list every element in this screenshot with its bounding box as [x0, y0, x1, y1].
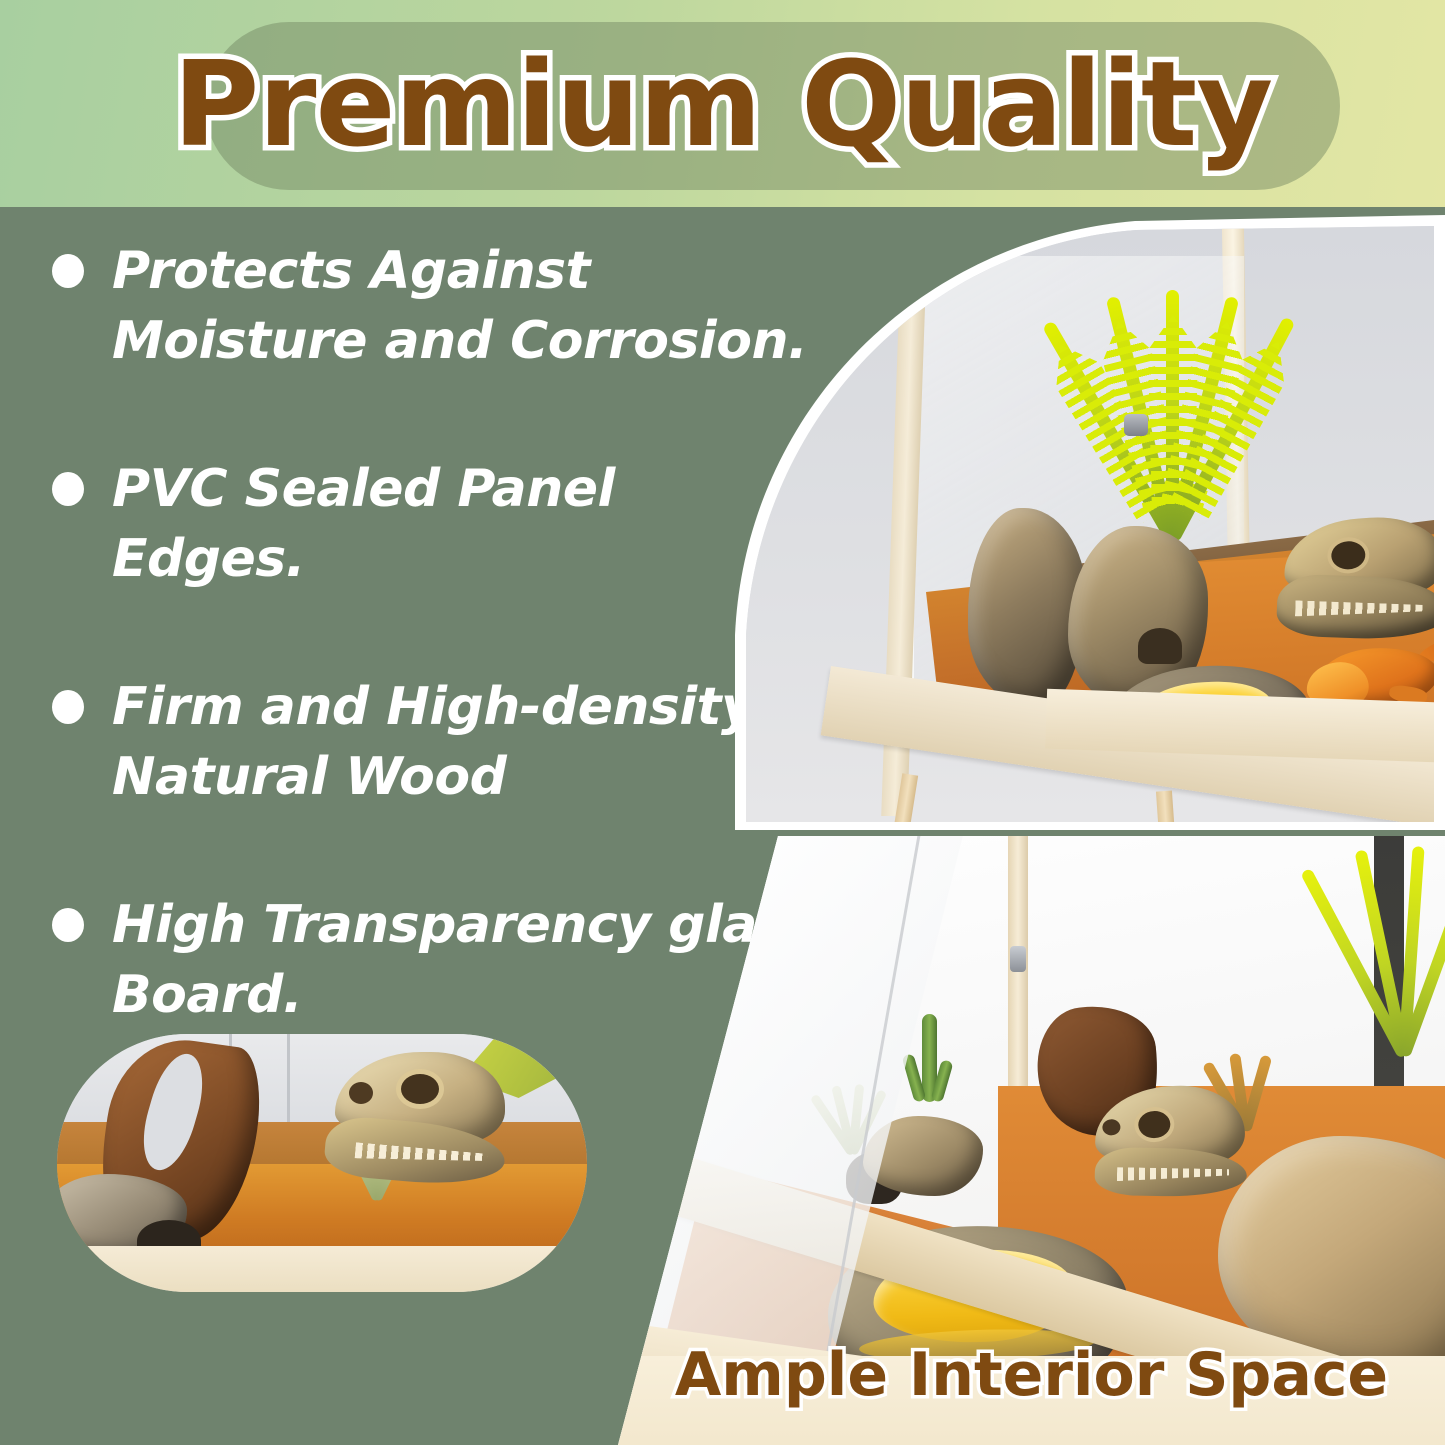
dinosaur-skull-decor [1084, 1082, 1266, 1231]
panel-knob [1010, 946, 1026, 972]
list-item: High Transparency glass Board. [52, 890, 822, 1030]
dinosaur-skull-decor [325, 1052, 525, 1222]
header-banner: Premium Quality [0, 0, 1445, 208]
list-item: Protects Against Moisture and Corrosion. [52, 236, 822, 376]
feature-text: PVC Sealed Panel Edges. [112, 454, 822, 594]
terrarium-base-rail [57, 1246, 587, 1292]
bottom-caption: Ample Interior Space [618, 1336, 1445, 1414]
list-item: PVC Sealed Panel Edges. [52, 454, 822, 594]
feature-text: High Transparency glass Board. [112, 890, 822, 1030]
inset-panel-seam [287, 1034, 290, 1130]
page-title: Premium Quality [0, 34, 1445, 174]
product-photo-inset [57, 1034, 587, 1292]
rock-decor-left [968, 508, 1086, 708]
rock-cave-opening [1138, 628, 1182, 664]
fern-plant-decor [1318, 836, 1445, 1056]
list-item: Firm and High-density Natural Wood [52, 672, 822, 812]
bullet-dot-icon [52, 908, 84, 942]
skull-eye-socket [401, 1074, 439, 1104]
skull-nostril [349, 1082, 373, 1104]
feature-text: Protects Against Moisture and Corrosion. [112, 236, 822, 376]
bullet-dot-icon [52, 472, 84, 506]
product-feature-infographic: Premium Quality Protects Against Moistur… [0, 0, 1445, 1445]
feature-text: Firm and High-density Natural Wood [112, 672, 822, 812]
fern-plant-decor [1046, 226, 1296, 540]
bullet-dot-icon [52, 254, 84, 288]
feature-list: Protects Against Moisture and Corrosion.… [52, 236, 822, 1108]
glass-panel-knob [1124, 414, 1148, 436]
bullet-dot-icon [52, 690, 84, 724]
